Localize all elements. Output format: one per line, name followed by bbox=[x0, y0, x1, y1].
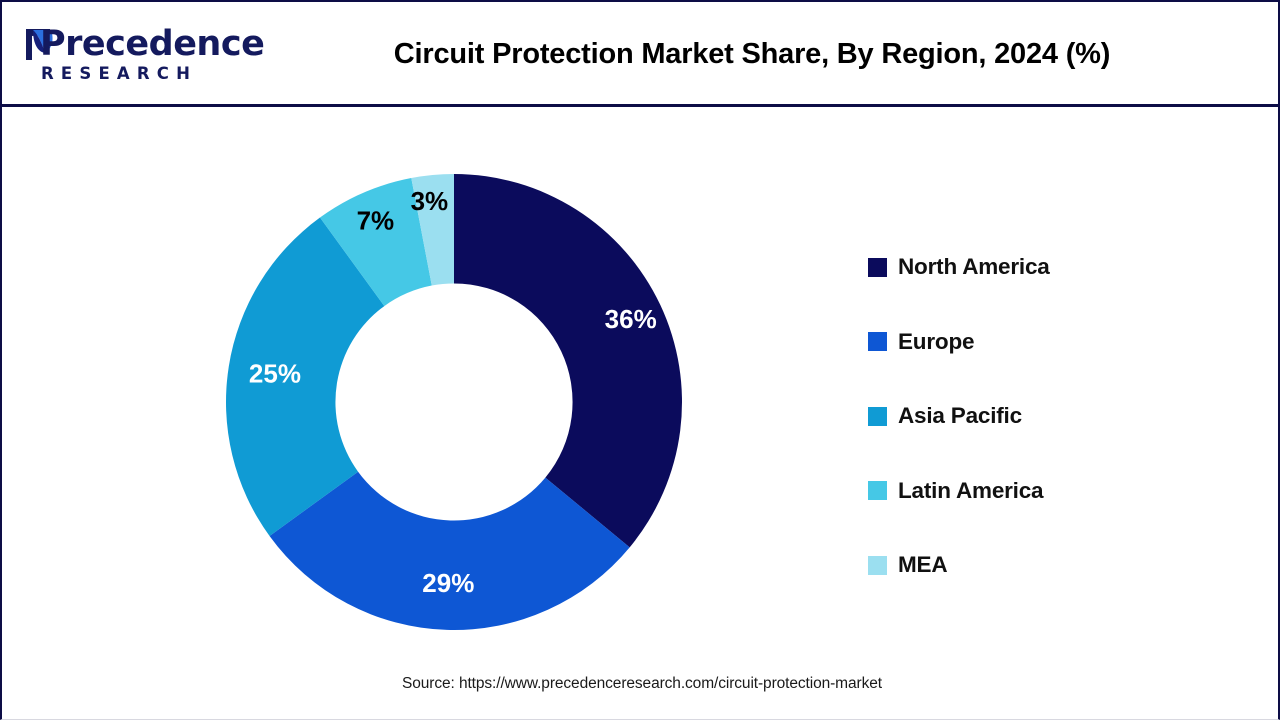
legend-item-label: Asia Pacific bbox=[898, 403, 1022, 429]
legend-item[interactable]: Europe bbox=[868, 305, 1198, 380]
legend-swatch-icon bbox=[868, 407, 887, 426]
precedence-research-logo: Precedence RESEARCH bbox=[20, 24, 230, 86]
legend-item[interactable]: Asia Pacific bbox=[868, 379, 1198, 454]
donut-chart: 36%29%25%7%3% bbox=[214, 162, 694, 642]
legend-item[interactable]: Latin America bbox=[868, 454, 1198, 529]
chart-legend: North AmericaEuropeAsia PacificLatin Ame… bbox=[868, 230, 1198, 603]
slice-value-label: 7% bbox=[357, 205, 395, 235]
legend-item-label: Latin America bbox=[898, 478, 1043, 504]
slice-value-label: 36% bbox=[605, 304, 657, 334]
chart-page: Precedence RESEARCH Circuit Protection M… bbox=[0, 0, 1280, 720]
donut-chart-svg: 36%29%25%7%3% bbox=[214, 162, 694, 642]
legend-item-label: Europe bbox=[898, 329, 974, 355]
legend-swatch-icon bbox=[868, 332, 887, 351]
legend-item[interactable]: North America bbox=[868, 230, 1198, 305]
legend-swatch-icon bbox=[868, 481, 887, 500]
logo-subtitle: RESEARCH bbox=[41, 64, 197, 84]
donut-slices bbox=[226, 174, 682, 630]
legend-swatch-icon bbox=[868, 258, 887, 277]
source-text: Source: https://www.precedenceresearch.c… bbox=[2, 675, 1280, 693]
legend-item-label: MEA bbox=[898, 552, 947, 578]
legend-swatch-icon bbox=[868, 556, 887, 575]
slice-value-label: 29% bbox=[422, 568, 474, 598]
slice-value-label: 25% bbox=[249, 359, 301, 389]
slice-value-label: 3% bbox=[411, 186, 449, 216]
chart-header: Precedence RESEARCH Circuit Protection M… bbox=[2, 2, 1278, 107]
logo-wordmark: Precedence bbox=[40, 24, 264, 64]
chart-title: Circuit Protection Market Share, By Regi… bbox=[252, 2, 1262, 107]
donut-slice[interactable] bbox=[454, 174, 682, 547]
legend-item-label: North America bbox=[898, 254, 1050, 280]
legend-item[interactable]: MEA bbox=[868, 528, 1198, 603]
